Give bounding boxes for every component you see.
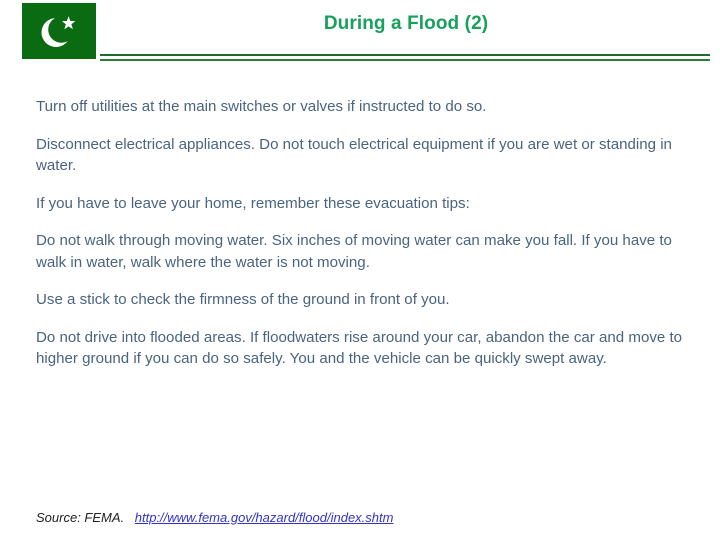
slide-header: During a Flood (2) xyxy=(0,0,720,70)
slide-body: Turn off utilities at the main switches … xyxy=(36,96,686,370)
title-divider xyxy=(100,54,710,61)
source-attribution: Source: FEMA. http://www.fema.gov/hazard… xyxy=(36,510,393,525)
page-title: During a Flood (2) xyxy=(100,13,712,35)
divider-line-lower xyxy=(100,59,710,61)
body-paragraph-3: If you have to leave your home, remember… xyxy=(36,193,686,215)
pakistan-flag-icon xyxy=(22,3,96,59)
source-url-link[interactable]: http://www.fema.gov/hazard/flood/index.s… xyxy=(135,510,394,525)
body-paragraph-4: Do not walk through moving water. Six in… xyxy=(36,230,686,273)
divider-line-upper xyxy=(100,54,710,56)
body-paragraph-2: Disconnect electrical appliances. Do not… xyxy=(36,134,686,177)
slide-canvas: During a Flood (2) Turn off utilities at… xyxy=(0,0,720,540)
body-paragraph-1: Turn off utilities at the main switches … xyxy=(36,96,686,118)
source-label: Source: FEMA. xyxy=(36,510,124,525)
body-paragraph-5: Use a stick to check the firmness of the… xyxy=(36,289,686,311)
body-paragraph-6: Do not drive into flooded areas. If floo… xyxy=(36,327,686,370)
